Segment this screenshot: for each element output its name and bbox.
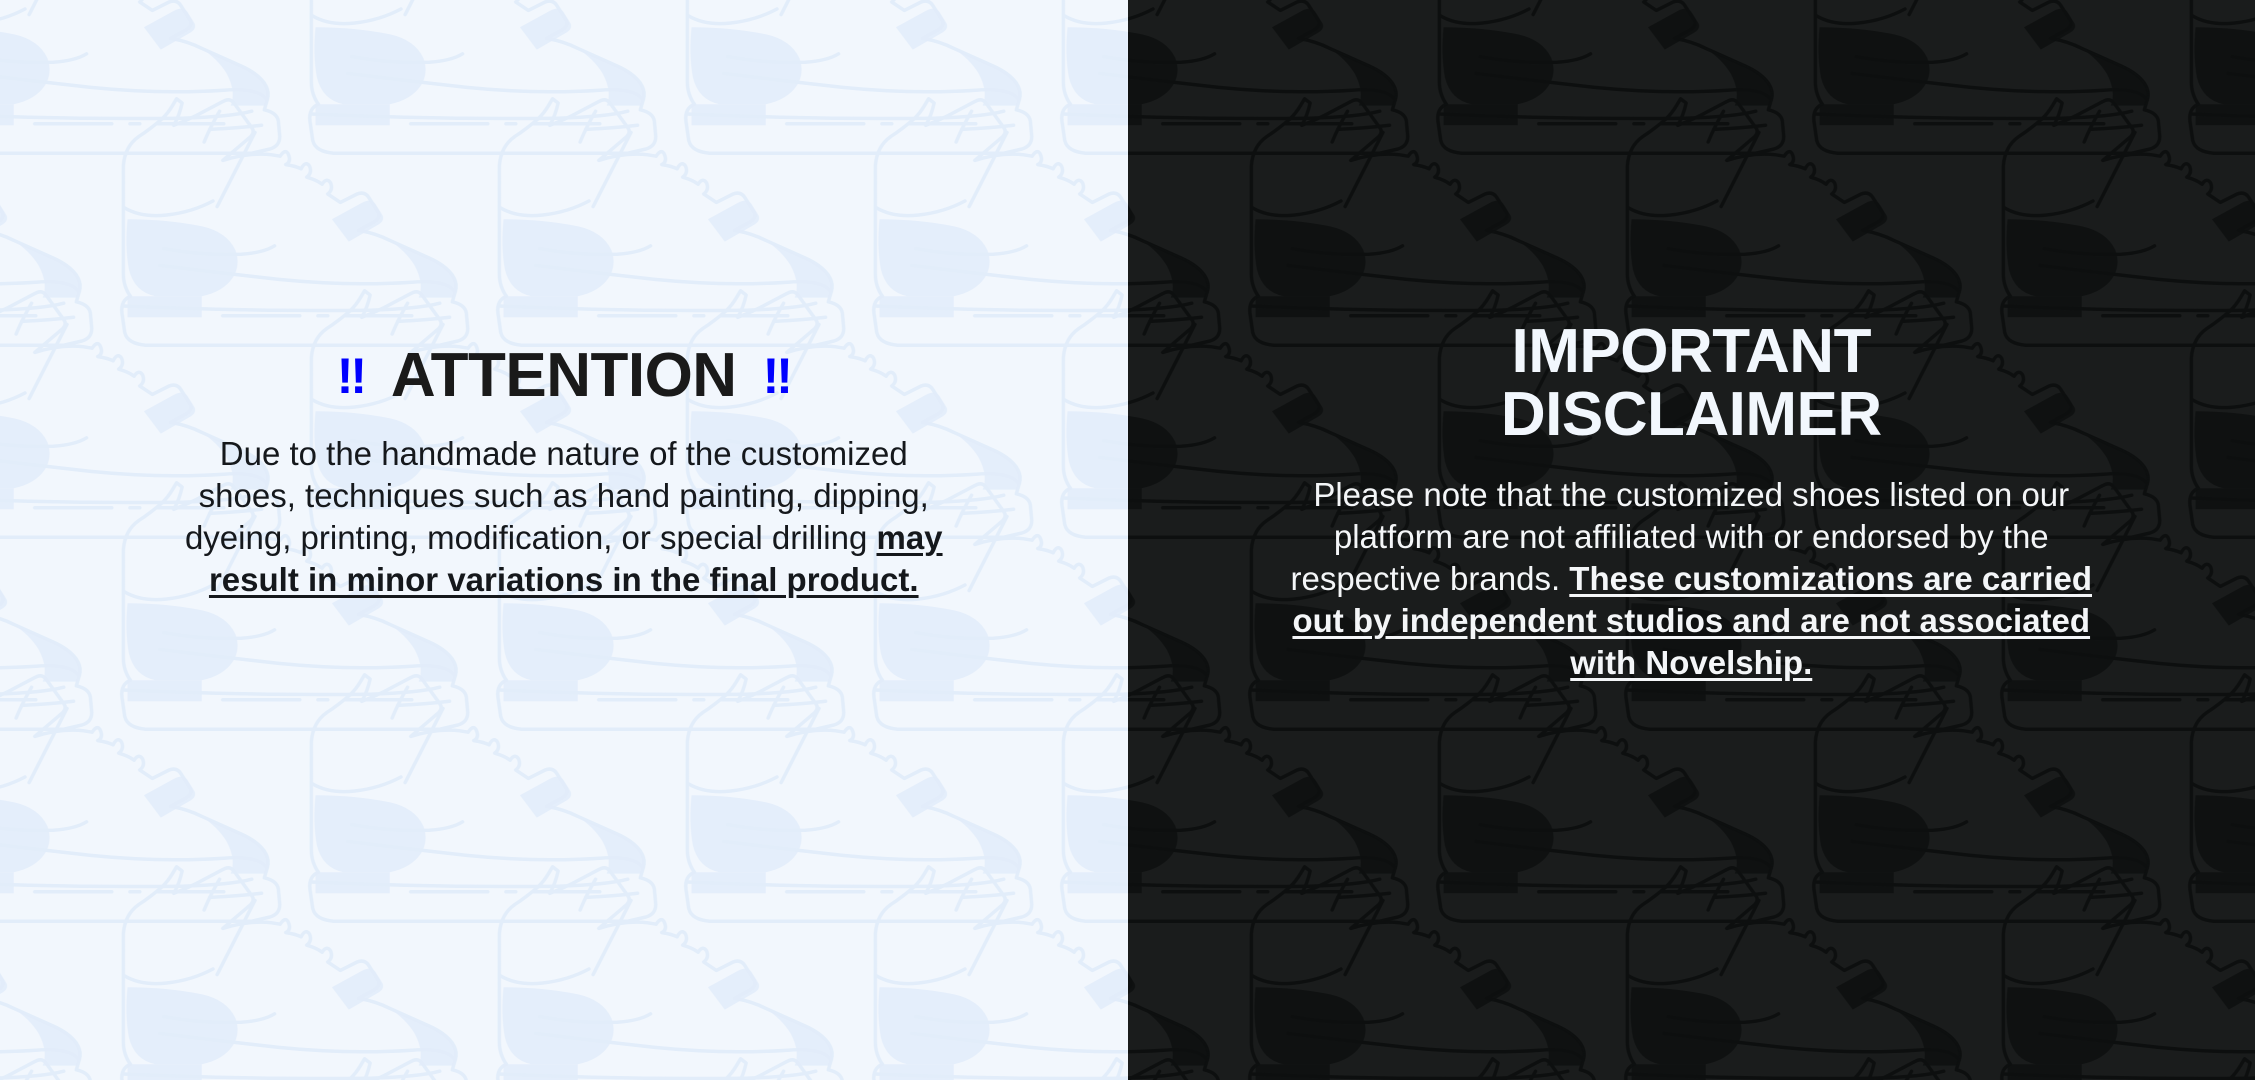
- disclaimer-heading-line-2: DISCLAIMER: [1501, 380, 1882, 449]
- attention-content: ‼ ATTENTION ‼ Due to the handmade nature…: [0, 0, 1128, 1080]
- double-exclamation-icon-right: ‼: [763, 351, 791, 401]
- attention-panel: ‼ ATTENTION ‼ Due to the handmade nature…: [0, 0, 1128, 1080]
- disclaimer-content: IMPORTANTDISCLAIMER Please note that the…: [1128, 0, 2255, 1080]
- attention-body-lead: Due to the handmade nature of the custom…: [185, 435, 929, 556]
- disclaimer-panel: IMPORTANTDISCLAIMER Please note that the…: [1128, 0, 2255, 1080]
- disclaimer-heading-line-1: IMPORTANT: [1512, 317, 1871, 386]
- attention-heading-row: ‼ ATTENTION ‼: [337, 344, 791, 407]
- disclaimer-banner: ‼ ATTENTION ‼ Due to the handmade nature…: [0, 0, 2255, 1080]
- attention-body: Due to the handmade nature of the custom…: [169, 433, 959, 601]
- attention-heading: ATTENTION: [391, 344, 737, 407]
- disclaimer-body: Please note that the customized shoes li…: [1286, 474, 2096, 684]
- disclaimer-heading: IMPORTANTDISCLAIMER: [1311, 320, 2071, 446]
- double-exclamation-icon-left: ‼: [337, 351, 365, 401]
